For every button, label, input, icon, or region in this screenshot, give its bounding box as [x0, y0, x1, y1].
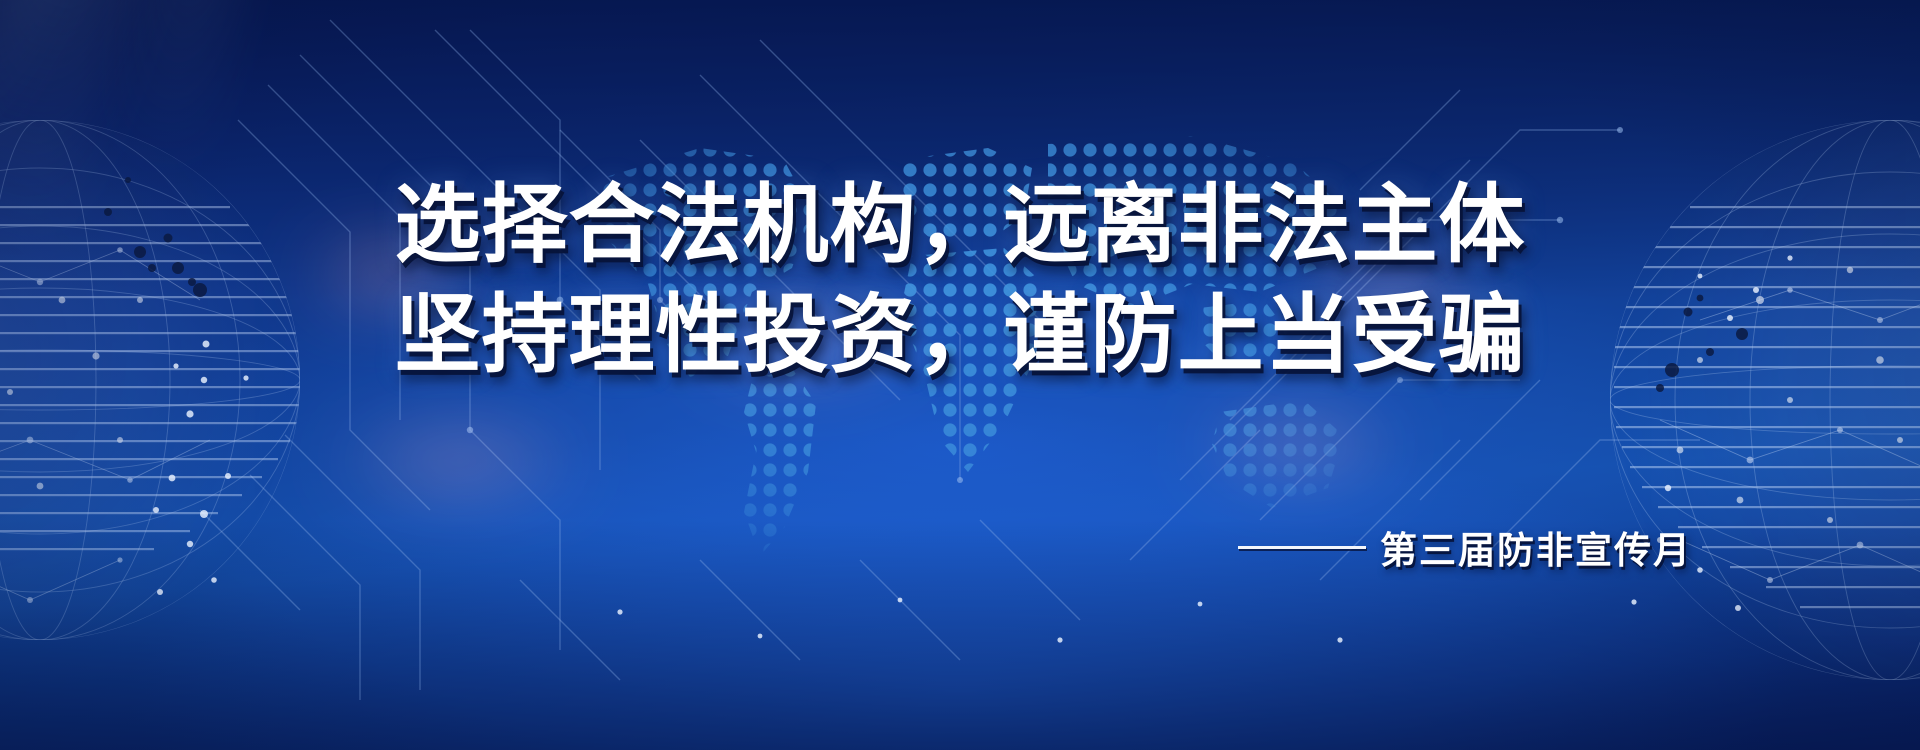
headline-line-2: 坚持理性投资，谨防上当受骗 [0, 292, 1920, 378]
headline-block: 选择合法机构，远离非法主体 坚持理性投资，谨防上当受骗 [0, 182, 1920, 378]
promo-banner: 选择合法机构，远离非法主体 坚持理性投资，谨防上当受骗 第三届防非宣传月 [0, 0, 1920, 750]
attribution-rule-icon [1238, 546, 1366, 549]
attribution-block: 第三届防非宣传月 [1238, 520, 1692, 574]
attribution-text: 第三届防非宣传月 [1380, 520, 1692, 574]
headline-line-1: 选择合法机构，远离非法主体 [0, 182, 1920, 268]
